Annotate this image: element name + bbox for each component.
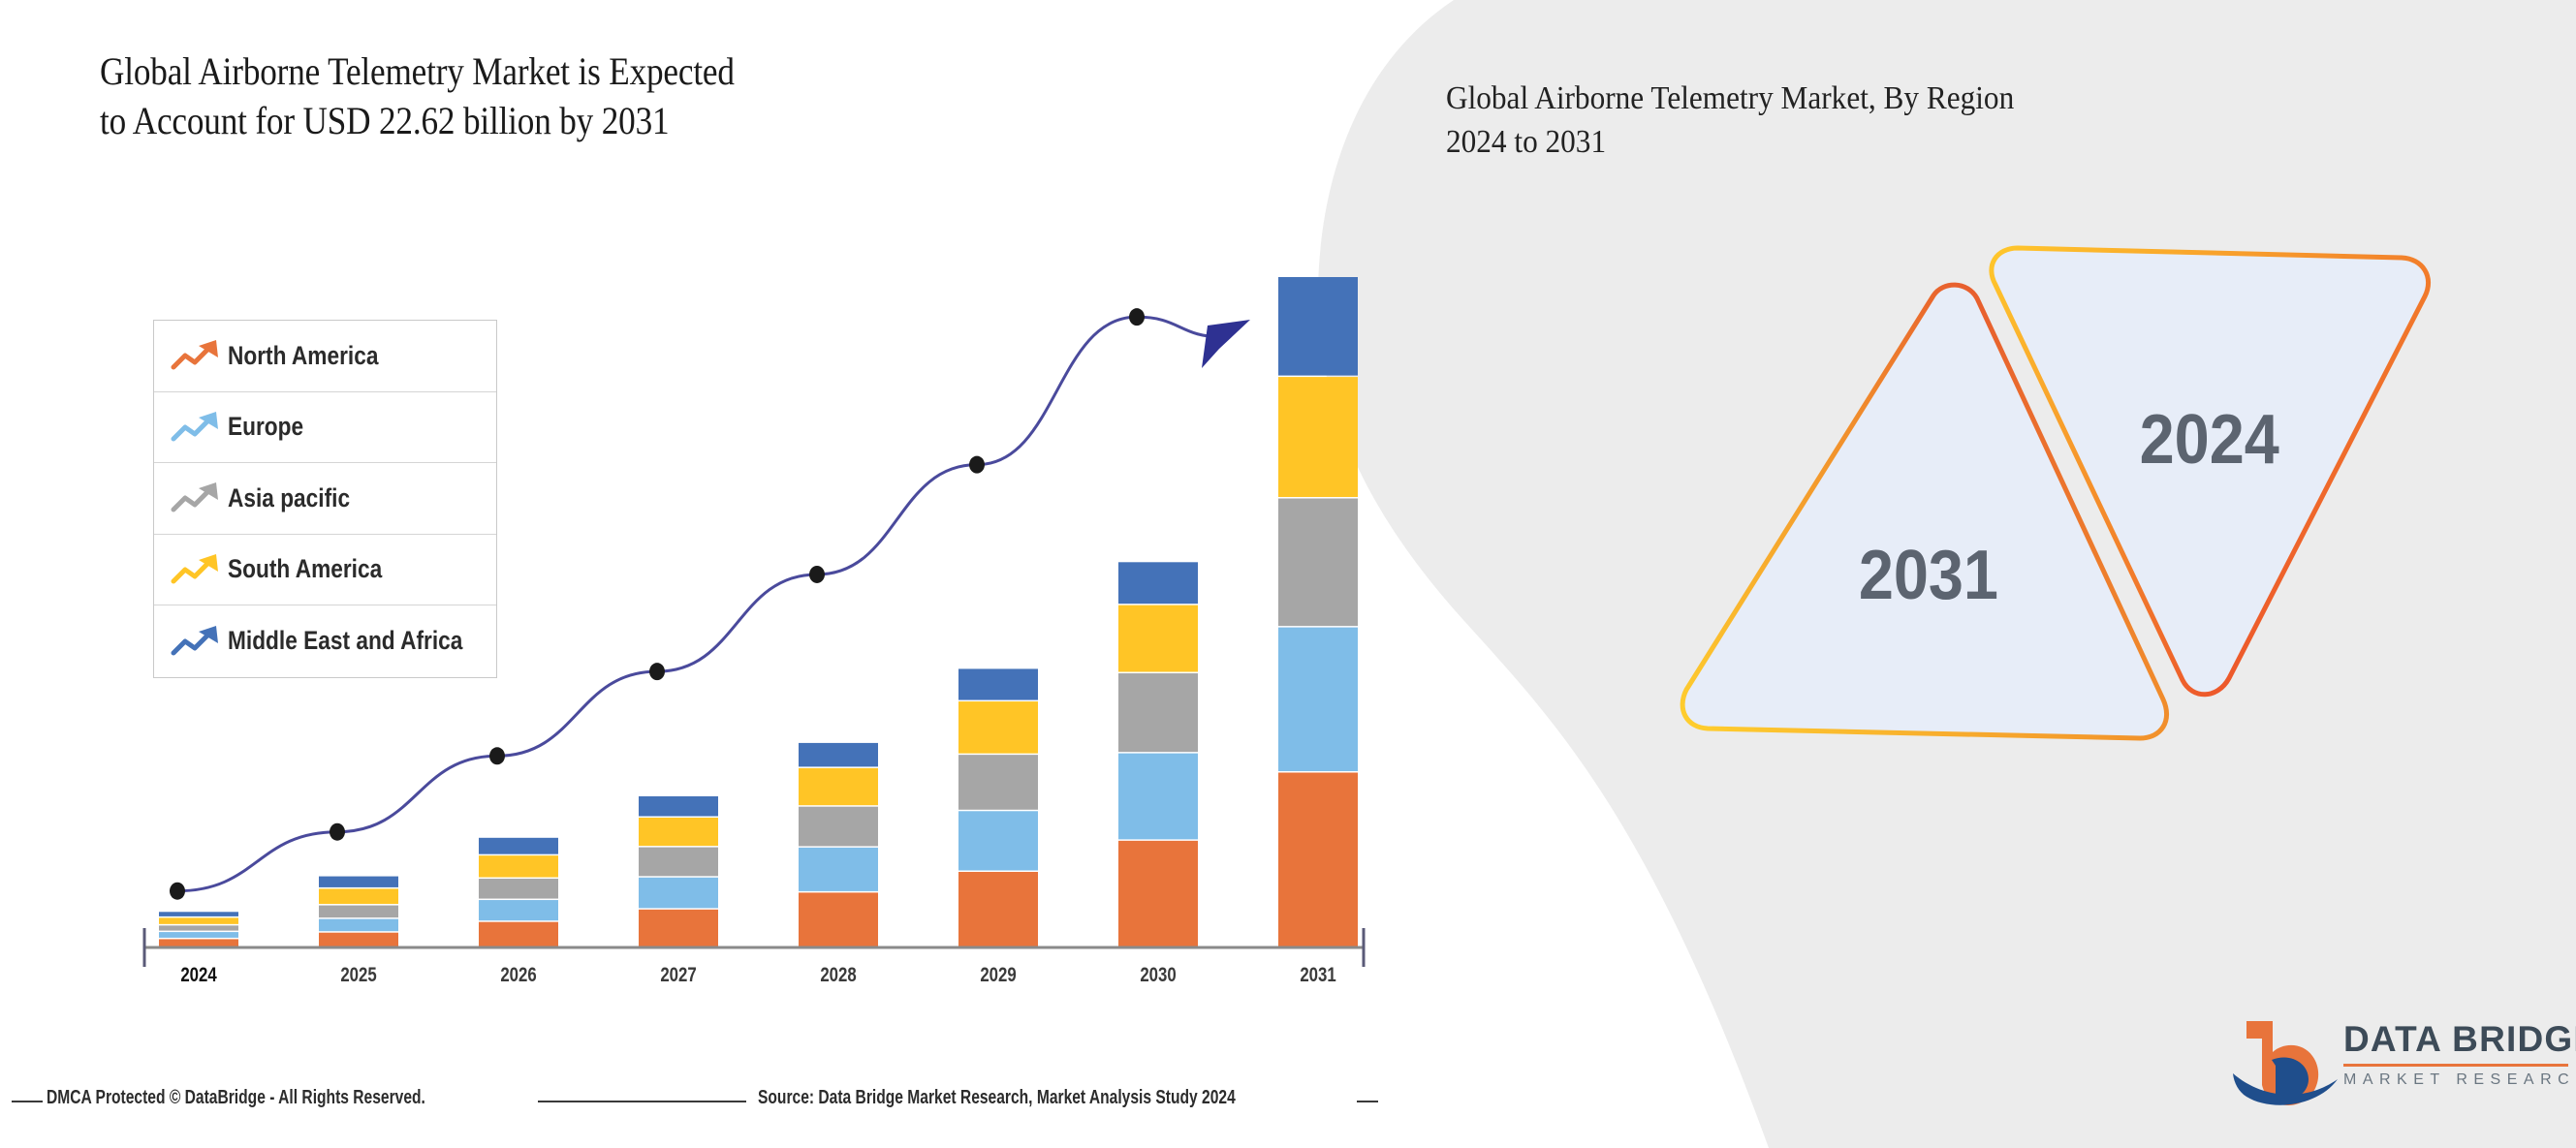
trend-point-marker <box>489 747 505 764</box>
logo-divider <box>2343 1064 2568 1067</box>
trend-up-arrow-icon <box>170 336 224 375</box>
trend-up-arrow-icon <box>170 550 224 589</box>
bar-segment <box>1278 277 1358 376</box>
bar-segment <box>159 939 238 946</box>
logo-title: DATA BRIDGE <box>2343 1021 2576 1057</box>
bar-segment <box>799 892 878 946</box>
bar-segment <box>1278 773 1358 946</box>
legend-item-label: North America <box>228 341 378 371</box>
bar-segment <box>479 900 558 920</box>
trend-up-arrow-icon <box>170 479 224 517</box>
legend-item-europe[interactable]: Europe <box>154 392 496 464</box>
trend-up-arrow-icon <box>170 408 224 447</box>
bar-segment <box>958 872 1038 946</box>
logo-tagline: MARKET RESEARCH <box>2343 1072 2576 1088</box>
trend-up-arrow-icon <box>170 622 224 661</box>
bar-segment <box>799 848 878 891</box>
bar-segment <box>319 933 398 946</box>
footer-rule-mid <box>538 1101 746 1102</box>
trend-point-marker <box>969 456 985 474</box>
trend-point-marker <box>170 883 185 900</box>
page-title-line2: to Account for USD 22.62 billion by 2031 <box>100 96 867 145</box>
footer-dmca-text: DMCA Protected © DataBridge - All Rights… <box>47 1087 425 1109</box>
footer-rule-left <box>12 1101 43 1102</box>
bar-segment <box>639 848 718 877</box>
bar-segment <box>1118 605 1198 672</box>
chart-region-heading: Global Airborne Telemetry Market, By Reg… <box>1446 78 2014 165</box>
footer-source-text: Source: Data Bridge Market Research, Mar… <box>758 1087 1236 1109</box>
legend-item-label: Europe <box>228 412 303 442</box>
bar-segment <box>799 768 878 805</box>
legend-item-middle-east-and-africa[interactable]: Middle East and Africa <box>154 605 496 677</box>
bar-segment <box>1118 673 1198 752</box>
bar-segment <box>159 932 238 938</box>
bar-segment <box>639 910 718 946</box>
bar-segment <box>958 701 1038 754</box>
bar-segment <box>159 917 238 923</box>
chart-region-heading-line2: 2024 to 2031 <box>1446 121 2014 165</box>
x-axis-label-2024: 2024 <box>160 964 237 987</box>
chart-region-heading-line1: Global Airborne Telemetry Market, By Reg… <box>1446 78 2014 121</box>
bar-segment <box>319 919 398 932</box>
legend-item-label: South America <box>228 554 382 584</box>
bar-segment <box>159 925 238 930</box>
bar-segment <box>479 838 558 854</box>
x-axis-label-2025: 2025 <box>320 964 397 987</box>
bar-segment <box>1118 841 1198 946</box>
bar-segment <box>479 855 558 877</box>
legend-item-label: Middle East and Africa <box>228 626 462 656</box>
bar-segment <box>958 811 1038 870</box>
trend-point-marker <box>1129 308 1145 326</box>
legend-item-asia-pacific[interactable]: Asia pacific <box>154 463 496 535</box>
data-bridge-logo: DATA BRIDGE MARKET RESEARCH <box>2229 1008 2559 1119</box>
x-axis-label-2029: 2029 <box>959 964 1037 987</box>
bar-segment <box>479 879 558 899</box>
bar-segment <box>1278 628 1358 771</box>
trend-point-marker <box>649 663 665 680</box>
bar-segment <box>1278 377 1358 497</box>
bar-segment <box>639 818 718 846</box>
legend-item-south-america[interactable]: South America <box>154 535 496 606</box>
bar-segment <box>799 807 878 847</box>
legend-item-north-america[interactable]: North America <box>154 321 496 392</box>
chart-legend: North AmericaEuropeAsia pacificSouth Ame… <box>153 320 497 678</box>
x-axis-label-2026: 2026 <box>480 964 557 987</box>
bar-segment <box>639 796 718 817</box>
footer: DMCA Protected © DataBridge - All Rights… <box>0 1087 1386 1135</box>
x-axis-labels: 20242025202620272028202920302031 <box>0 964 1405 1003</box>
bar-segment <box>1118 562 1198 604</box>
bar-segment <box>479 922 558 946</box>
bar-segment <box>799 743 878 767</box>
bar-segment <box>319 906 398 918</box>
x-axis-label-2031: 2031 <box>1279 964 1357 987</box>
infographic-canvas: Global Airborne Telemetry Market is Expe… <box>0 0 2576 1148</box>
x-axis-label-2030: 2030 <box>1119 964 1197 987</box>
bar-segment <box>159 912 238 916</box>
bar-segment <box>319 888 398 904</box>
trend-point-marker <box>809 566 825 583</box>
trend-point-marker <box>330 823 345 841</box>
logo-mark-icon <box>2229 1009 2340 1118</box>
bar-segment <box>958 668 1038 699</box>
x-axis-label-2028: 2028 <box>800 964 877 987</box>
bar-segment <box>1118 754 1198 840</box>
bar-segment <box>1278 499 1358 627</box>
legend-item-label: Asia pacific <box>228 483 350 513</box>
x-axis-label-2027: 2027 <box>640 964 717 987</box>
bar-segment <box>319 877 398 887</box>
footer-rule-right <box>1357 1101 1378 1102</box>
trend-arrow-icon <box>1202 320 1250 368</box>
bar-segment <box>639 878 718 909</box>
page-title: Global Airborne Telemetry Market is Expe… <box>100 47 867 145</box>
page-title-line1: Global Airborne Telemetry Market is Expe… <box>100 47 867 96</box>
bar-segment <box>958 755 1038 810</box>
